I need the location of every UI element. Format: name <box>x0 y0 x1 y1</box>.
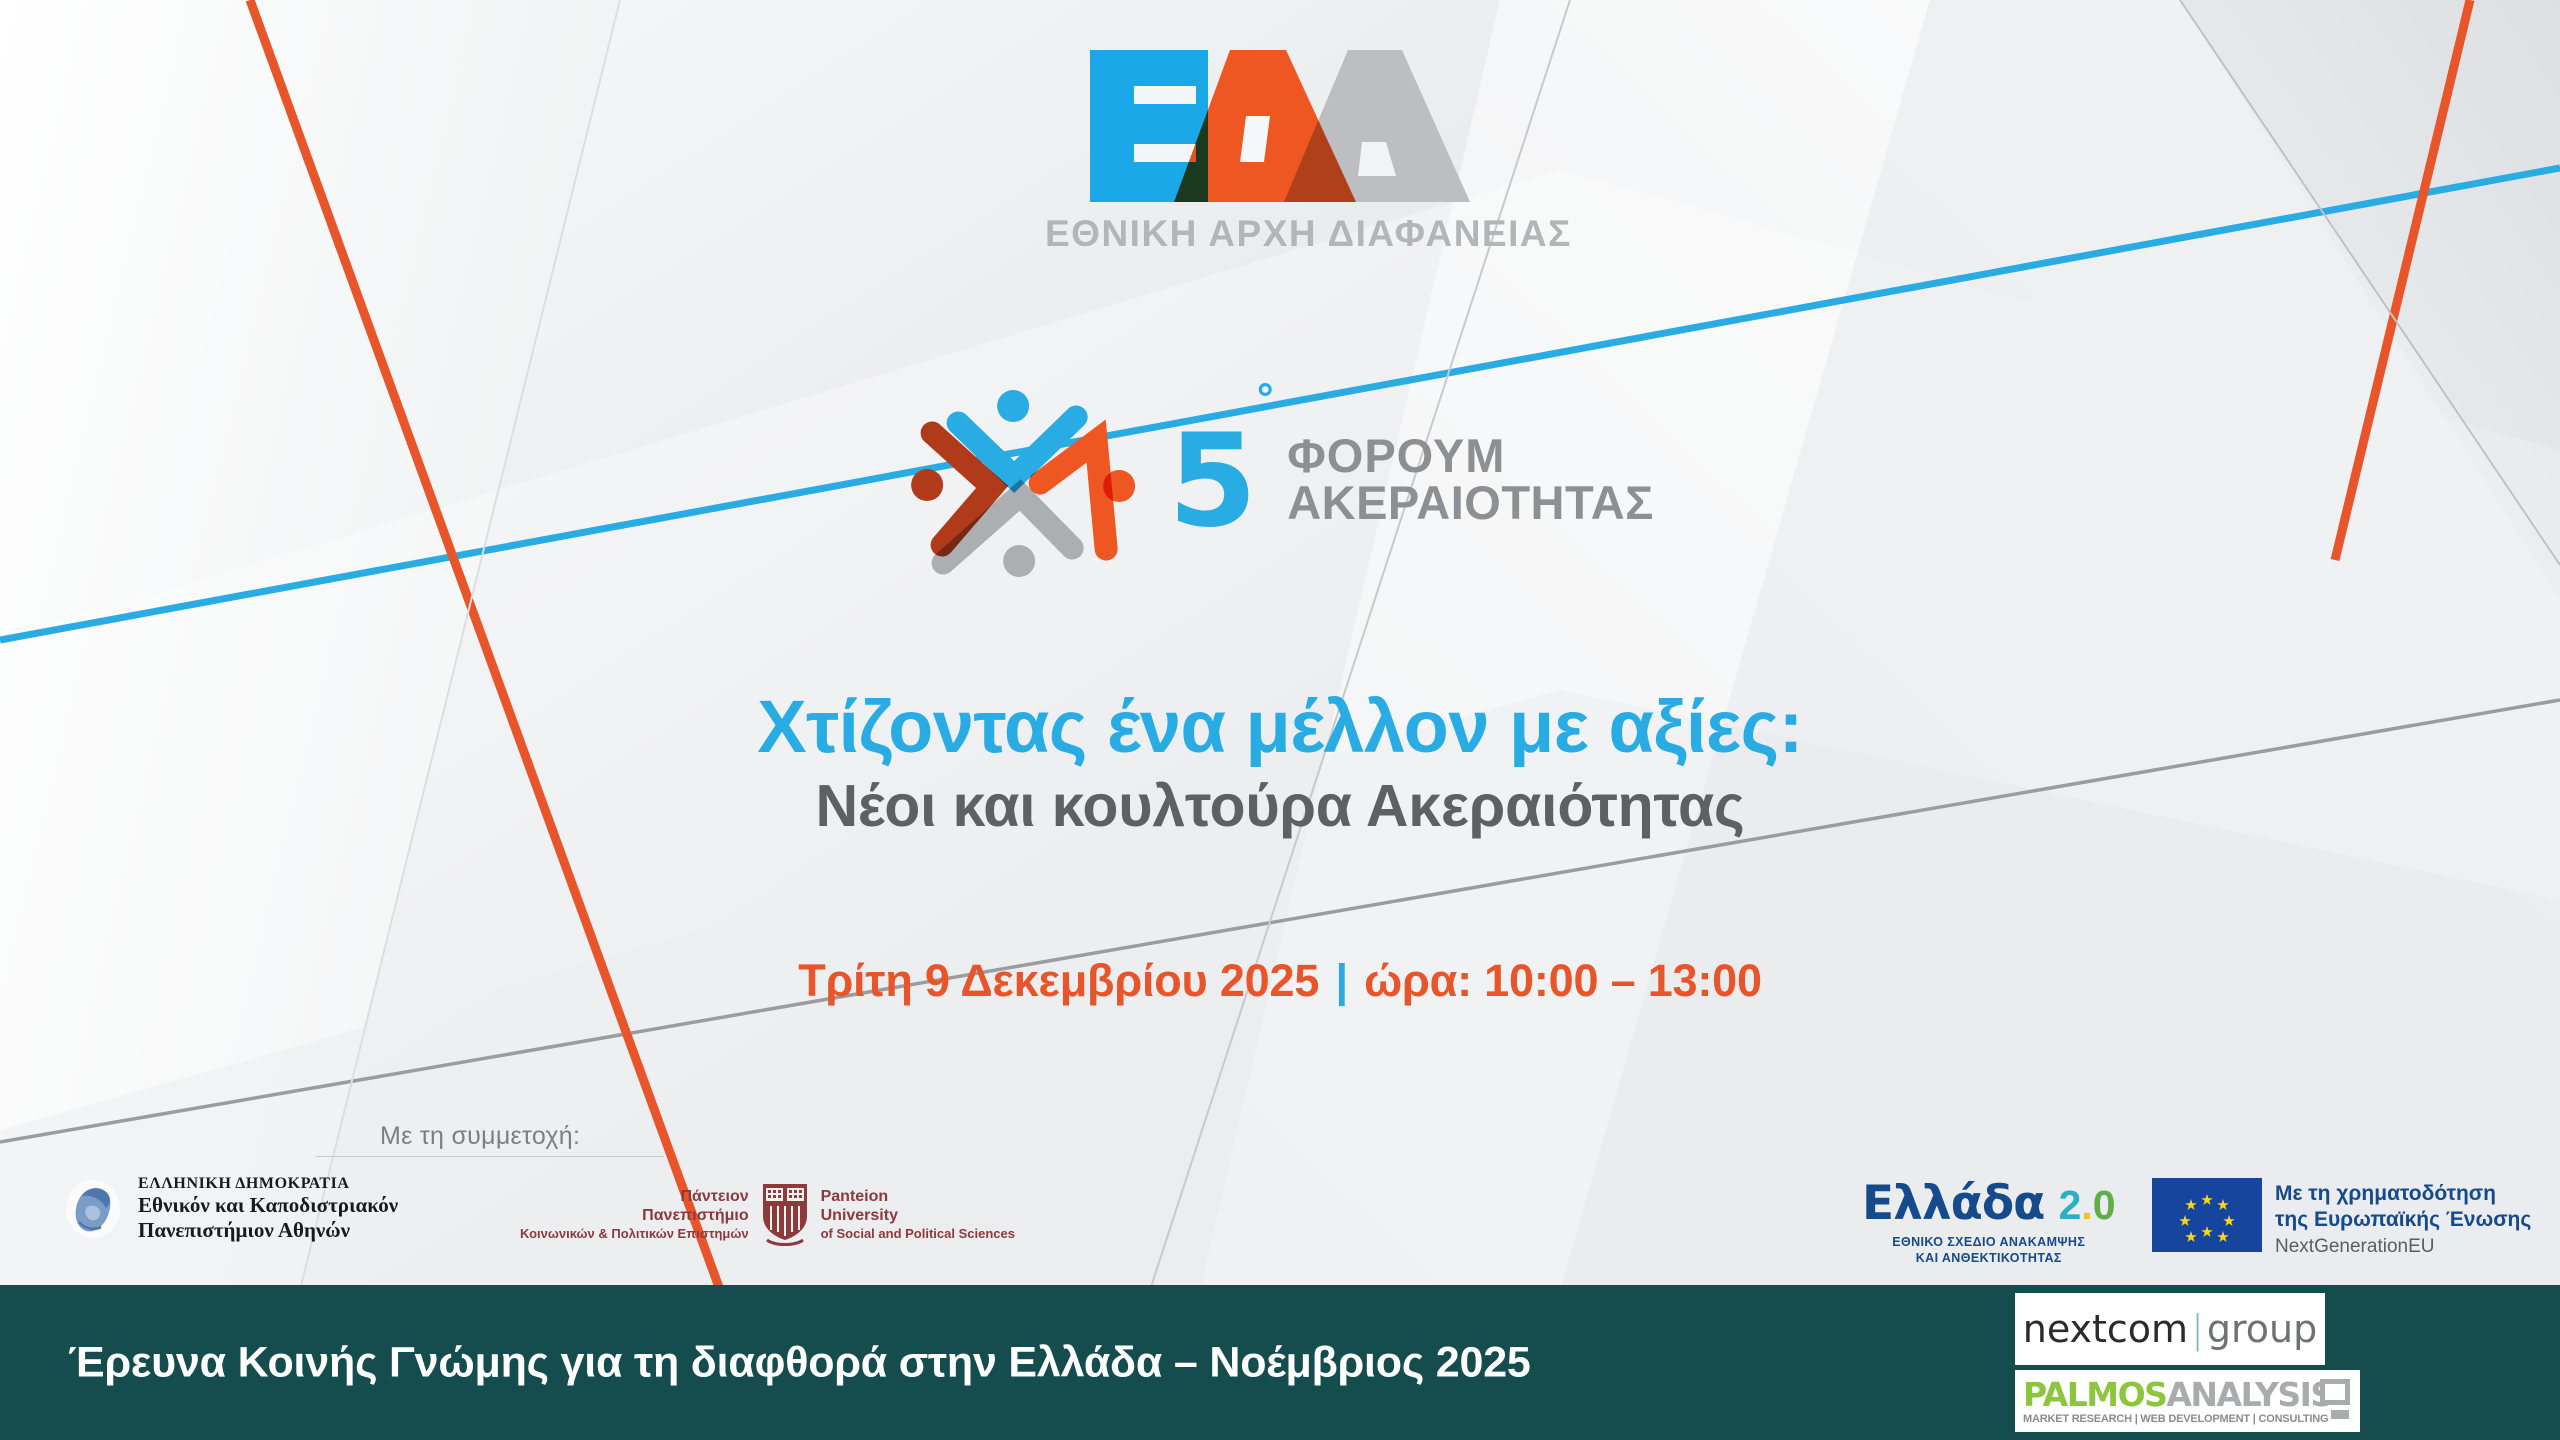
ead-subtitle: ΕΘΝΙΚΗ ΑΡΧΗ ΔΙΑΦΑΝΕΙΑΣ <box>1045 213 1515 255</box>
title-main: Χτίζοντας ένα μέλλον με αξίες: <box>0 688 2560 766</box>
panteion-en-line2: University <box>821 1206 1015 1226</box>
eu-text-line1: Με τη χρηματοδότηση <box>2275 1181 2531 1207</box>
event-title: Χτίζοντας ένα μέλλον με αξίες: Νέοι και … <box>0 688 2560 839</box>
ead-logo: ΕΘΝΙΚΗ ΑΡΧΗ ΔΙΑΦΑΝΕΙΑΣ <box>1045 44 1515 255</box>
forum-word-line1: ΦΟΡΟΥΜ <box>1287 432 1654 480</box>
eu-text-line3: NextGenerationEU <box>2275 1236 2531 1258</box>
participation-divider <box>316 1156 664 1157</box>
forum-people-icon <box>906 385 1146 580</box>
eu-text-line2: της Ευρωπαϊκής Ένωσης <box>2275 1207 2531 1233</box>
nkua-logo: ΕΛΛΗΝΙΚΗ ΔΗΜΟΚΡΑΤΙΑ Εθνικόν και Καποδιστ… <box>62 1175 398 1243</box>
greece20-version: 2.0 <box>2058 1182 2115 1229</box>
date-separator: | <box>1331 955 1351 1006</box>
panteion-shield-icon <box>759 1182 811 1246</box>
palmos-monitor-icon <box>2320 1379 2350 1405</box>
panteion-en-line1: Panteion <box>821 1187 1015 1207</box>
nkua-line2: Εθνικόν και Καποδιστριακόν <box>138 1193 398 1218</box>
greece20-sub-line1: ΕΘΝΙΚΟ ΣΧΕΔΙΟ ΑΝΑΚΑΜΨΗΣ <box>1862 1234 2116 1250</box>
participation-label: Με τη συμμετοχή: <box>380 1122 580 1151</box>
bottom-bar: Έρευνα Κοινής Γνώμης για τη διαφθορά στη… <box>0 1285 2560 1440</box>
forum-word-line2: ΑΚΕΡΑΙΟΤΗΤΑΣ <box>1287 479 1654 527</box>
nextcom-bar: | <box>2188 1307 2207 1351</box>
panteion-gr-line3: Κοινωνικών & Πολιτικών Επιστημών <box>520 1226 749 1242</box>
athena-head-icon <box>62 1178 124 1240</box>
panteion-gr-line1: Πάντειον <box>520 1187 749 1207</box>
forum-logo: 5° ΦΟΡΟΥΜ ΑΚΕΡΑΙΟΤΗΤΑΣ <box>906 385 1654 580</box>
nextcom-part2: group <box>2207 1307 2317 1351</box>
agency-logos: nextcom|group PALMOSANALYSIS MARKET RESE… <box>2015 1285 2360 1440</box>
nextcom-part1: nextcom <box>2023 1307 2188 1351</box>
panteion-logo: Πάντειον Πανεπιστήμιο Κοινωνικών & Πολιτ… <box>520 1182 1015 1246</box>
event-datetime: Τρίτη 9 Δεκεμβρίου 2025 | ώρα: 10:00 – 1… <box>0 955 2560 1007</box>
palmos-part2: ANALYSIS <box>2166 1375 2332 1414</box>
event-date: Τρίτη 9 Δεκεμβρίου 2025 <box>798 955 1319 1006</box>
palmos-tagline: MARKET RESEARCH | WEB DEVELOPMENT | CONS… <box>2023 1414 2354 1425</box>
palmos-analysis-logo: PALMOSANALYSIS MARKET RESEARCH | WEB DEV… <box>2015 1370 2360 1432</box>
slide-canvas: ΕΘΝΙΚΗ ΑΡΧΗ ΔΙΑΦΑΝΕΙΑΣ 5° ΦΟΡΟΥΜ <box>0 0 2560 1440</box>
bottom-bar-title: Έρευνα Κοινής Γνώμης για τη διαφθορά στη… <box>68 1338 1531 1387</box>
ead-logo-mark <box>1090 44 1470 209</box>
title-subtitle: Νέοι και κουλτούρα Ακεραιότητας <box>0 774 2560 839</box>
panteion-en-line3: of Social and Political Sciences <box>821 1226 1015 1242</box>
greece20-logo: Ελλάδα 2.0 ΕΘΝΙΚΟ ΣΧΕΔΙΟ ΑΝΑΚΑΜΨΗΣ ΚΑΙ Α… <box>1862 1176 2116 1266</box>
forum-number: 5° <box>1168 430 1273 535</box>
nextcom-group-logo: nextcom|group <box>2015 1293 2325 1365</box>
event-time: ώρα: 10:00 – 13:00 <box>1364 955 1762 1006</box>
forum-wordmark: 5° ΦΟΡΟΥΜ ΑΚΕΡΑΙΟΤΗΤΑΣ <box>1168 430 1654 535</box>
eu-flag-icon <box>2152 1178 2262 1252</box>
nkua-line3: Πανεπιστήμιον Αθηνών <box>138 1218 398 1243</box>
greece20-sub-line2: ΚΑΙ ΑΝΘΕΚΤΙΚΟΤΗΤΑΣ <box>1862 1250 2116 1266</box>
panteion-gr-line2: Πανεπιστήμιο <box>520 1206 749 1226</box>
palmos-part1: PALMOS <box>2023 1375 2166 1414</box>
eu-funding-logo: Με τη χρηματοδότηση της Ευρωπαϊκής Ένωση… <box>2152 1178 2531 1258</box>
greece20-word: Ελλάδα <box>1862 1176 2044 1231</box>
nkua-line1: ΕΛΛΗΝΙΚΗ ΔΗΜΟΚΡΑΤΙΑ <box>138 1175 398 1193</box>
